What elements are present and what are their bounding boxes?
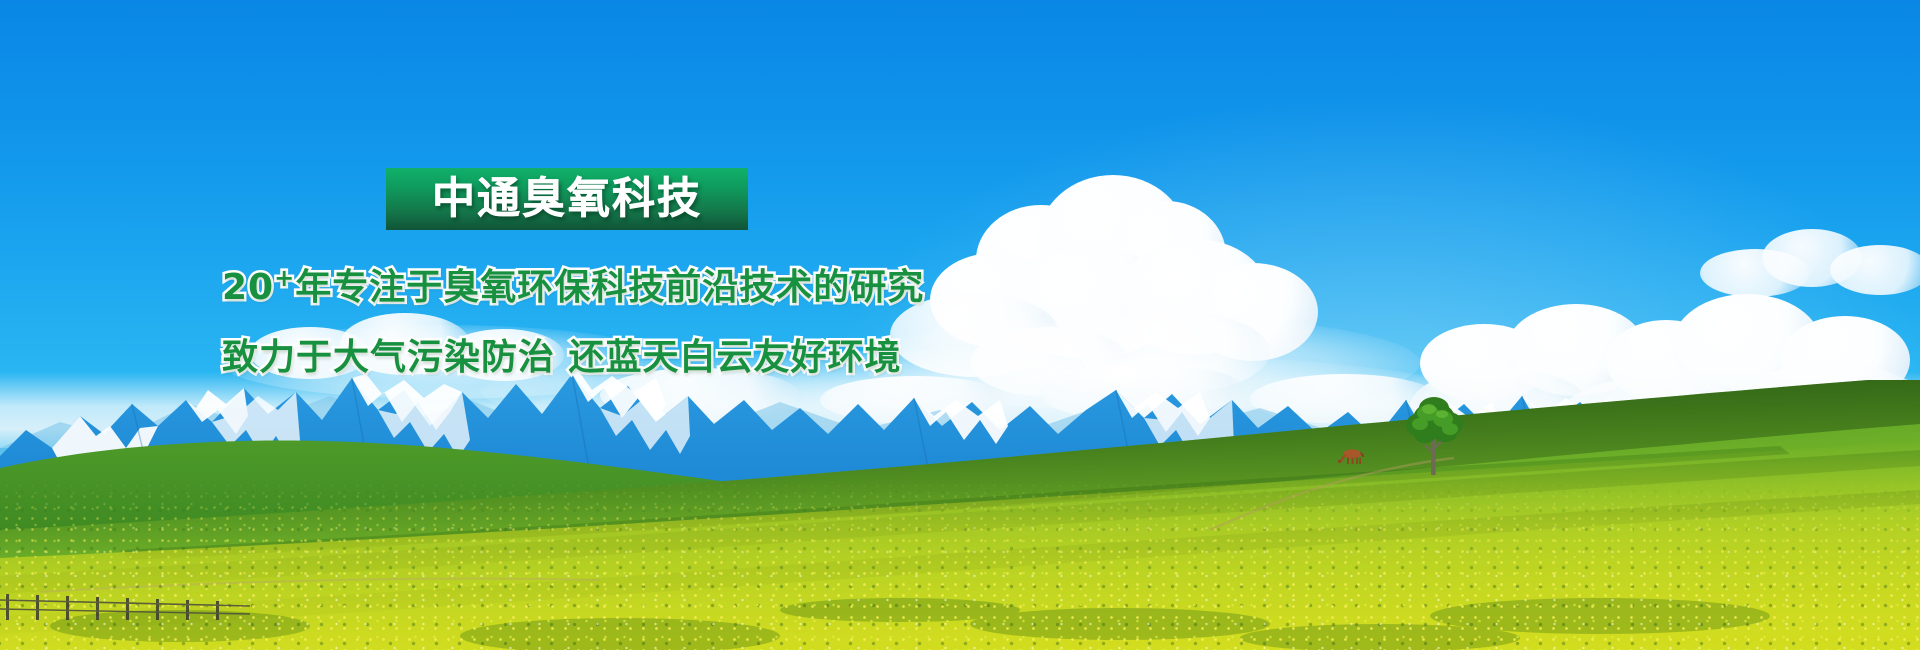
tagline-1-rest: 年专注于臭氧环保科技前沿技术的研究 <box>295 267 924 308</box>
tagline-2-rest: 致力于大气污染防治 还蓝天白云友好环境 <box>222 337 902 378</box>
tagline-1-prefix: 20 <box>222 267 274 308</box>
brand-title: 中通臭氧科技 <box>432 178 702 221</box>
tagline-1-superscript: + <box>274 264 295 292</box>
brand-title-plate: 中通臭氧科技 <box>386 168 748 230</box>
tagline-primary: 20+年专注于臭氧环保科技前沿技术的研究 <box>222 258 924 310</box>
tagline-secondary: 致力于大气污染防治 还蓝天白云友好环境 <box>222 328 902 380</box>
banner-copy: 中通臭氧科技 20+年专注于臭氧环保科技前沿技术的研究 致力于大气污染防治 还蓝… <box>0 0 1920 650</box>
hero-banner: 中通臭氧科技 20+年专注于臭氧环保科技前沿技术的研究 致力于大气污染防治 还蓝… <box>0 0 1920 650</box>
